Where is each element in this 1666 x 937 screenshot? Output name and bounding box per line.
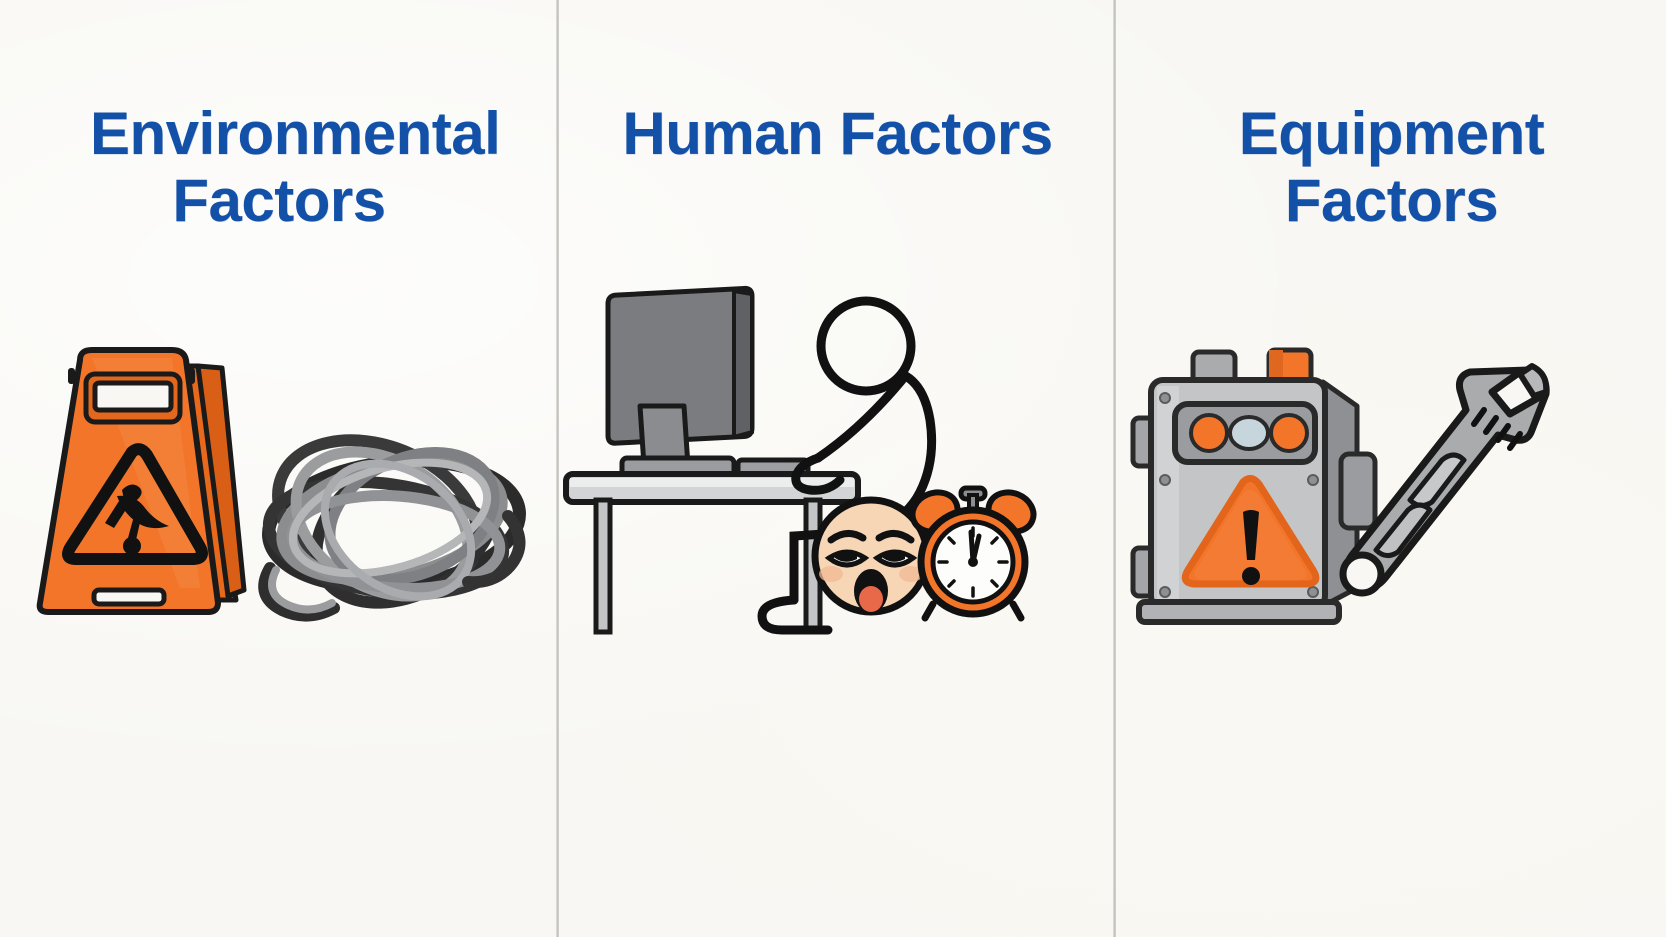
wet-floor-sign-icon bbox=[22, 338, 252, 628]
panel-title-equipment: Equipment Factors bbox=[1117, 100, 1666, 234]
panel-equipment-factors: Equipment Factors bbox=[1117, 0, 1666, 937]
panel-environmental-factors: Environmental Factors bbox=[0, 0, 558, 937]
panel-title-line-1: Human Factors bbox=[560, 100, 1115, 167]
panel-title-line-2: Factors bbox=[90, 167, 468, 234]
panel-human-factors: Human Factors bbox=[560, 0, 1115, 937]
tangled-cables-icon bbox=[246, 420, 526, 620]
panel-divider-1 bbox=[556, 0, 559, 937]
adjustable-wrench-icon bbox=[1332, 352, 1572, 612]
panel-title-line-1: Equipment bbox=[1207, 100, 1576, 167]
panel-divider-2 bbox=[1113, 0, 1116, 937]
infographic-canvas: Environmental Factors bbox=[0, 0, 1666, 937]
panel-title-human: Human Factors bbox=[560, 100, 1115, 167]
machine-warning-icon bbox=[1073, 330, 1373, 630]
panel-title-line-1: Environmental bbox=[90, 100, 468, 167]
panel-title-line-2: Factors bbox=[1207, 167, 1576, 234]
panel-title-environmental: Environmental Factors bbox=[0, 100, 558, 234]
alarm-clock-icon bbox=[907, 480, 1039, 620]
